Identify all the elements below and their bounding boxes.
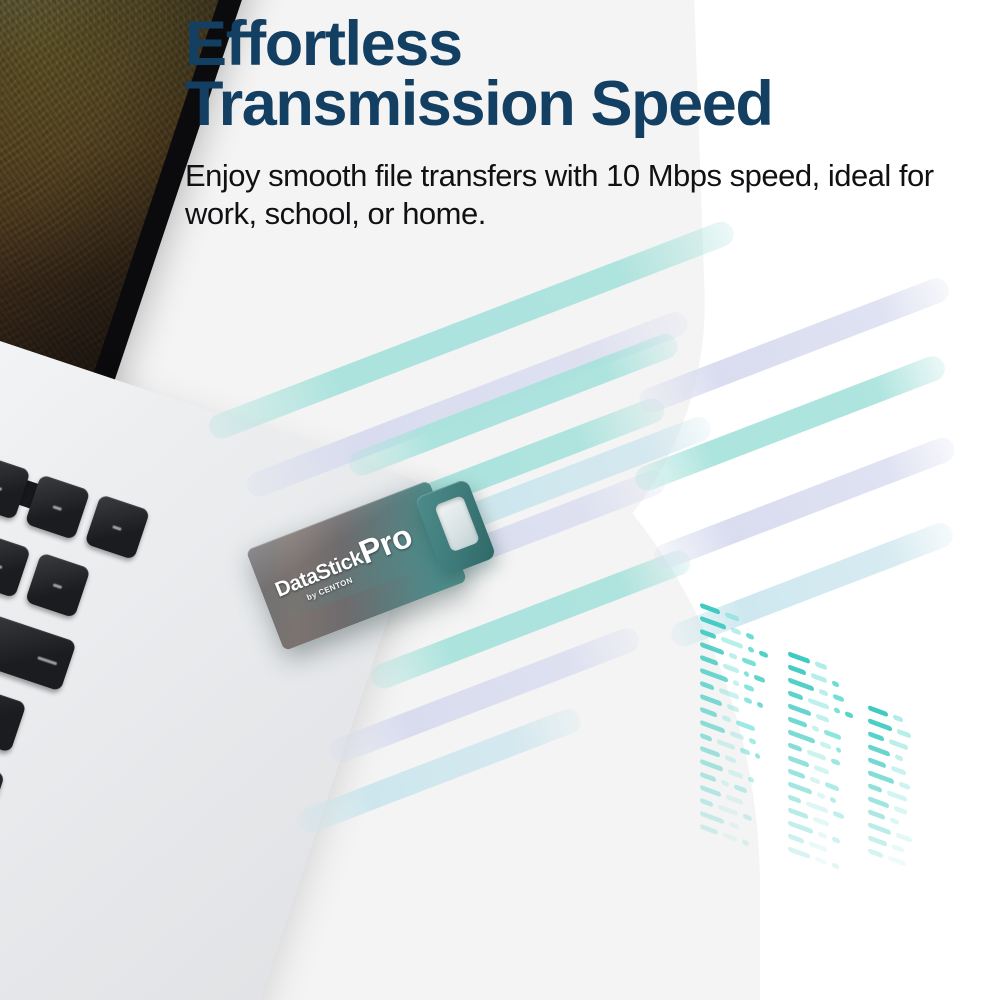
data-stream-dash: [834, 707, 840, 714]
data-stream-dash: [700, 681, 714, 691]
data-stream-dash: [700, 785, 721, 798]
data-stream-graphic: [700, 605, 930, 935]
data-stream-dash: [700, 772, 716, 783]
data-stream-dash: [868, 809, 885, 820]
data-stream-dash: [832, 862, 839, 870]
data-stream-dash: [810, 776, 820, 785]
data-stream-column-3: [868, 705, 912, 877]
data-stream-dash: [817, 792, 825, 800]
data-stream-dash: [819, 688, 828, 696]
data-stream-dash: [824, 729, 841, 740]
data-stream-dash: [788, 820, 813, 834]
data-stream-dash: [813, 816, 829, 827]
data-stream-dash: [725, 755, 736, 764]
data-stream-dash: [728, 769, 743, 779]
data-stream-column-2: [788, 651, 853, 883]
data-stream-dash: [700, 668, 728, 683]
data-stream-dash: [759, 650, 768, 658]
data-stream-dash: [788, 794, 801, 804]
data-stream-dash: [894, 805, 907, 815]
data-stream-dash: [788, 846, 810, 859]
data-stream-dash: [700, 720, 725, 734]
data-stream-dash: [721, 779, 729, 787]
data-stream-row: [788, 846, 853, 875]
data-stream-dash: [830, 796, 836, 803]
data-stream-dash: [889, 739, 908, 751]
data-stream-dash: [736, 720, 755, 732]
data-stream-dash: [868, 705, 888, 717]
data-stream-dash: [818, 831, 827, 839]
data-stream-dash: [868, 718, 892, 732]
data-stream-dash: [820, 741, 831, 750]
data-stream-dash: [788, 781, 812, 795]
data-stream-dash: [743, 813, 752, 821]
data-stream-dash: [788, 729, 815, 744]
data-stream-dash: [719, 688, 739, 700]
data-stream-dash: [754, 674, 765, 683]
data-stream-dash: [730, 731, 744, 741]
data-stream-dash: [868, 731, 884, 742]
data-stream-dash: [734, 784, 747, 794]
data-stream-dash: [809, 841, 827, 853]
data-stream-dash: [742, 839, 749, 847]
data-stream-dash: [832, 836, 840, 844]
data-stream-dash: [788, 742, 802, 752]
data-stream-dash: [788, 690, 803, 700]
data-stream-dash: [825, 782, 839, 792]
data-stream-dash: [831, 758, 840, 766]
data-stream-dash: [742, 657, 756, 667]
data-stream-dash: [788, 755, 809, 768]
data-stream-dash: [814, 765, 829, 775]
data-stream-dash: [896, 832, 912, 843]
data-stream-dash: [868, 783, 882, 793]
data-stream-dash: [812, 725, 819, 733]
data-stream-dash: [808, 697, 829, 710]
data-stream-dash: [700, 707, 717, 718]
data-stream-dash: [815, 661, 827, 670]
data-stream-dash: [788, 807, 808, 819]
data-stream-dash: [729, 821, 739, 830]
data-stream-dash: [868, 848, 883, 858]
data-stream-dash: [892, 844, 904, 853]
data-stream-dash: [811, 673, 827, 684]
data-stream-dash: [700, 603, 720, 615]
data-stream-dash: [868, 835, 887, 847]
data-stream-dash: [788, 833, 804, 844]
data-stream-dash: [815, 856, 827, 865]
data-stream-dash: [868, 770, 894, 784]
data-stream-dash: [744, 697, 752, 705]
data-stream-dash: [833, 811, 844, 820]
data-stream-dash: [788, 768, 805, 779]
data-stream-dash: [727, 703, 739, 712]
data-stream-dash: [700, 746, 720, 758]
page-title: Effortless Transmission Speed: [185, 14, 975, 135]
data-stream-dash: [836, 747, 841, 754]
data-stream-dash: [788, 703, 811, 716]
data-stream-dash: [868, 796, 889, 809]
data-stream-dash: [700, 655, 718, 667]
data-stream-dash: [725, 612, 739, 622]
data-stream-dash: [700, 733, 712, 742]
data-stream-dash: [746, 632, 754, 640]
data-stream-dash: [726, 794, 743, 805]
data-stream-dash: [807, 749, 826, 761]
data-stream-dash: [744, 671, 749, 678]
data-stream-dash: [700, 629, 716, 640]
data-stream-dash: [757, 701, 763, 708]
data-stream-dash: [845, 711, 853, 719]
data-stream-dash: [832, 680, 839, 688]
data-stream-dash: [700, 824, 718, 836]
data-stream-dash: [816, 713, 829, 723]
data-stream-dash: [731, 627, 741, 636]
data-stream-dash: [897, 729, 911, 739]
data-stream-dash: [868, 757, 886, 769]
data-stream-dash: [721, 636, 743, 649]
data-stream-dash: [868, 822, 891, 835]
data-stream-dash: [748, 646, 754, 653]
data-stream-dash: [755, 753, 760, 760]
data-stream-dash: [700, 694, 722, 707]
data-stream-dash: [888, 855, 906, 867]
copy-block: Effortless Transmission Speed Enjoy smoo…: [185, 14, 975, 234]
data-stream-dash: [733, 680, 739, 687]
data-stream-dash: [722, 715, 731, 723]
data-stream-dash: [744, 684, 754, 693]
data-stream-dash: [700, 811, 724, 825]
data-stream-dash: [700, 642, 724, 656]
data-stream-dash: [788, 716, 807, 728]
speed-streak-10: [636, 275, 953, 417]
data-stream-dash: [887, 790, 907, 802]
data-stream-dash: [788, 677, 814, 691]
data-stream-dash: [899, 781, 910, 790]
data-stream-dash: [723, 832, 737, 842]
data-stream-dash: [891, 765, 906, 775]
data-stream-dash: [723, 663, 739, 674]
data-stream-dash: [893, 714, 903, 723]
data-stream-dash: [729, 652, 737, 660]
data-stream-column-1: [700, 603, 768, 862]
data-stream-dash: [833, 694, 844, 703]
data-stream-dash: [749, 737, 756, 745]
data-stream-dash: [748, 776, 754, 783]
data-stream-dash: [740, 747, 750, 756]
page-subtitle: Enjoy smooth file transfers with 10 Mbps…: [185, 157, 945, 234]
data-stream-dash: [788, 651, 810, 664]
data-stream-dash: [700, 616, 726, 630]
data-stream-dash: [806, 801, 828, 814]
data-stream-dash: [868, 744, 890, 757]
data-stream-dash: [717, 739, 735, 751]
data-stream-dash: [700, 798, 713, 808]
promo-banner: DataStickPro by CENTON Effortless Transm…: [0, 0, 1000, 1000]
data-stream-dash: [700, 759, 723, 772]
data-stream-dash: [890, 817, 899, 825]
data-stream-dash: [718, 804, 738, 816]
data-stream-dash: [788, 664, 806, 676]
data-stream-dash: [895, 754, 903, 762]
